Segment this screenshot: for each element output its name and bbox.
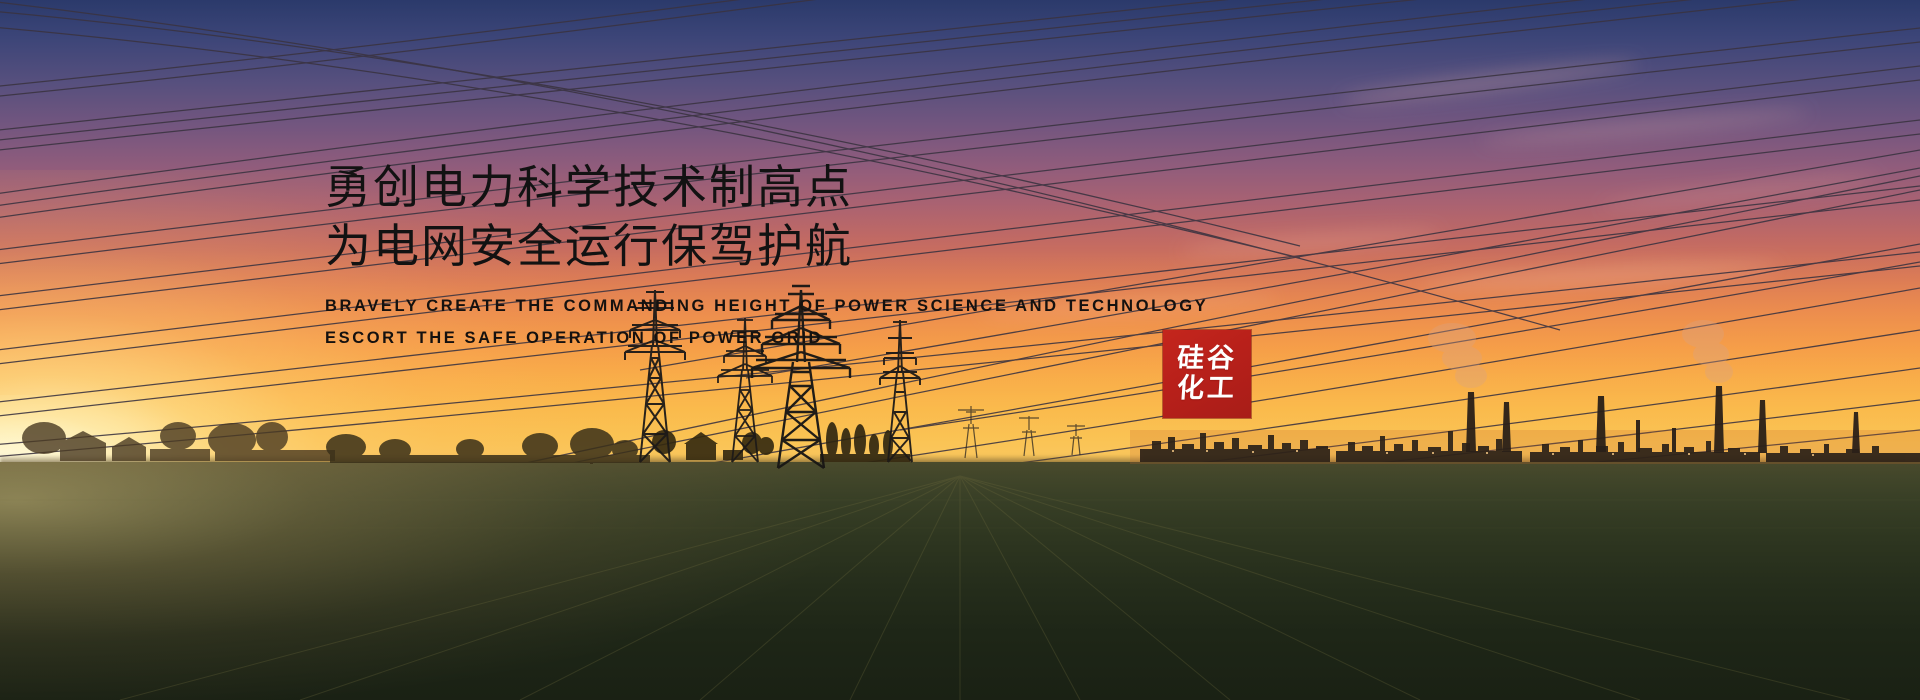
subtitle-en-line-2: ESCORT THE SAFE OPERATION OF POWER GRID <box>325 322 1225 354</box>
company-logo-stamp[interactable]: 硅谷 化工 <box>1163 330 1251 418</box>
tree-line <box>326 428 650 464</box>
logo-text-line-2: 化工 <box>1176 374 1238 404</box>
logo-text-line-1: 硅谷 <box>1176 344 1238 374</box>
subtitle-en-line-1: BRAVELY CREATE THE COMMANDING HEIGHT OF … <box>325 290 1225 322</box>
smoke-plume <box>1428 320 1733 388</box>
headline-cn-line-2: 为电网安全运行保驾护航 <box>325 217 1225 276</box>
distant-pylons <box>958 406 1085 458</box>
hero-copy: 勇创电力科学技术制高点 为电网安全运行保驾护航 BRAVELY CREATE T… <box>325 158 1225 354</box>
headline-cn-line-1: 勇创电力科学技术制高点 <box>325 158 1225 217</box>
subtitle-en-block: BRAVELY CREATE THE COMMANDING HEIGHT OF … <box>325 290 1225 354</box>
distant-village <box>22 422 335 461</box>
hero-banner: 勇创电力科学技术制高点 为电网安全运行保驾护航 BRAVELY CREATE T… <box>0 0 1920 700</box>
